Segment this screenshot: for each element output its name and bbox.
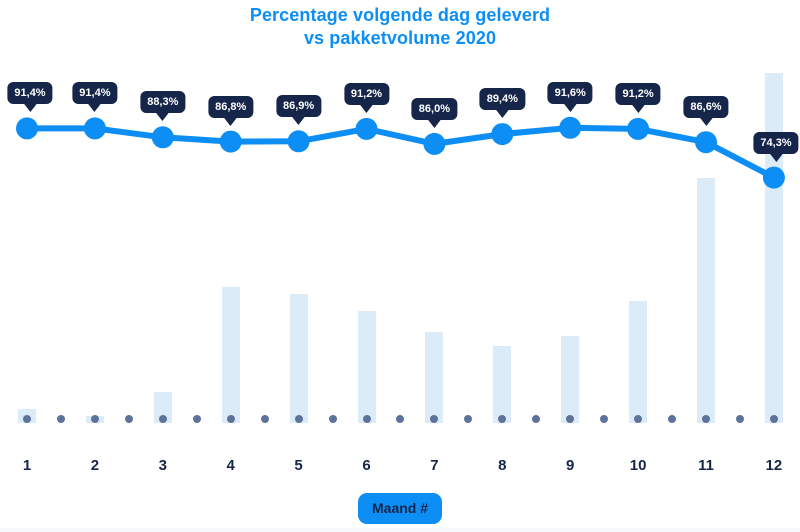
axis-title-button[interactable]: Maand # <box>358 493 442 524</box>
data-label-tooltip: 86,6% <box>683 96 728 118</box>
data-label-tooltip: 74,3% <box>753 132 798 154</box>
bottom-strip <box>0 528 800 532</box>
data-label-tooltip: 86,0% <box>412 98 457 120</box>
x-tick-label: 12 <box>766 457 783 474</box>
line-marker[interactable] <box>627 118 649 140</box>
line-marker[interactable] <box>695 131 717 153</box>
x-tick-label: 3 <box>159 457 167 474</box>
line-marker[interactable] <box>763 167 785 189</box>
plot-area: 91,4%91,4%88,3%86,8%86,9%91,2%86,0%89,4%… <box>0 0 800 450</box>
line-marker[interactable] <box>84 117 106 139</box>
chart-container: Percentage volgende dag geleverd vs pakk… <box>0 0 800 532</box>
line-marker[interactable] <box>16 117 38 139</box>
x-tick-label: 8 <box>498 457 506 474</box>
x-tick-label: 6 <box>362 457 370 474</box>
line-marker[interactable] <box>288 130 310 152</box>
x-tick-label: 2 <box>91 457 99 474</box>
line-series-percentage <box>0 0 800 450</box>
x-tick-label: 4 <box>227 457 235 474</box>
line-marker[interactable] <box>220 131 242 153</box>
x-tick-label: 11 <box>698 457 714 474</box>
x-tick-label: 9 <box>566 457 574 474</box>
data-label-tooltip: 88,3% <box>140 91 185 113</box>
x-axis: 123456789101112 <box>0 452 800 486</box>
x-tick-label: 5 <box>294 457 302 474</box>
line-marker[interactable] <box>152 126 174 148</box>
x-tick-label: 1 <box>23 457 31 474</box>
line-path <box>27 128 774 178</box>
x-tick-label: 7 <box>430 457 438 474</box>
data-label-tooltip: 86,8% <box>208 96 253 118</box>
data-label-tooltip: 86,9% <box>276 95 321 117</box>
line-markers <box>16 117 785 189</box>
data-label-tooltip: 91,2% <box>344 83 389 105</box>
data-label-tooltip: 91,4% <box>7 82 52 104</box>
line-marker[interactable] <box>559 117 581 139</box>
data-label-tooltip: 91,4% <box>72 82 117 104</box>
data-label-tooltip: 91,6% <box>548 82 593 104</box>
line-marker[interactable] <box>356 118 378 140</box>
data-label-tooltip: 91,2% <box>615 83 660 105</box>
x-tick-label: 10 <box>630 457 647 474</box>
line-marker[interactable] <box>423 133 445 155</box>
line-marker[interactable] <box>491 123 513 145</box>
data-label-tooltip: 89,4% <box>480 88 525 110</box>
